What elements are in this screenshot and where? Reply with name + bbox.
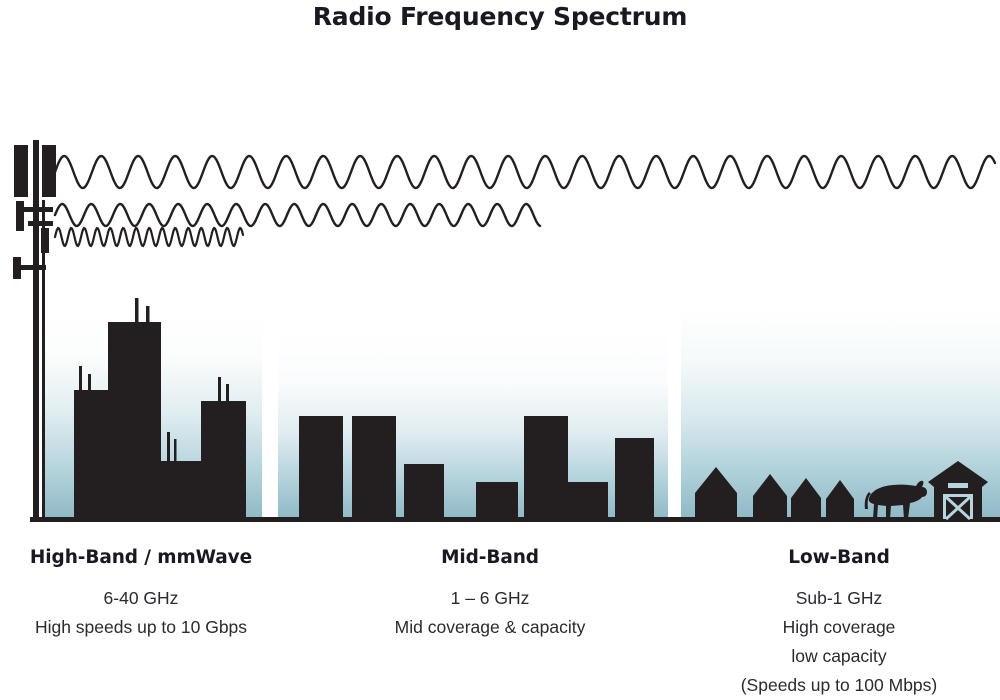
band-label-mid: Mid-Band 1 – 6 GHz Mid coverage & capaci… [340, 547, 640, 642]
suburb-building [568, 482, 608, 519]
wave-long-wavelength-low-band [55, 156, 995, 188]
skyscraper-spire [167, 432, 170, 462]
wave-short-wavelength-high-band [55, 228, 243, 246]
band-frequency-high: 6-40 GHz [0, 584, 282, 613]
band-label-low: Low-Band Sub-1 GHz High coverage low cap… [678, 547, 1000, 700]
band-detail-high-0: High speeds up to 10 Gbps [0, 613, 282, 642]
tower-mast [33, 140, 39, 522]
suburb-building [404, 464, 444, 519]
band-detail-low-1: low capacity [678, 642, 1000, 671]
tower-antenna-panel-left [14, 145, 28, 197]
band-detail-low-0: High coverage [678, 613, 1000, 642]
suburb-building [299, 416, 343, 519]
band-frequency-low: Sub-1 GHz [678, 584, 1000, 613]
tower-crossbar-mid-2 [28, 221, 53, 226]
band-detail-low-2: (Speeds up to 100 Mbps) [678, 671, 1000, 700]
band-frequency-mid: 1 – 6 GHz [340, 584, 640, 613]
barn-vent [948, 483, 968, 488]
suburb-building [476, 482, 518, 519]
suburb-building [615, 438, 654, 519]
skyscraper-building [108, 322, 161, 519]
tower-antenna-low-left [13, 257, 21, 279]
band-description-high: 6-40 GHz High speeds up to 10 Gbps [0, 584, 282, 642]
wave-medium-wavelength-mid-band [55, 204, 540, 226]
tower-crossbar-low [20, 265, 46, 270]
band-detail-mid-0: Mid coverage & capacity [340, 613, 640, 642]
band-name-high: High-Band / mmWave [0, 547, 282, 568]
band-label-high: High-Band / mmWave 6-40 GHz High speeds … [0, 547, 282, 642]
tower-antenna-mid-left [16, 201, 24, 231]
suburb-building [524, 416, 568, 519]
tower-antenna-small [41, 228, 49, 253]
band-description-low: Sub-1 GHz High coverage low capacity (Sp… [678, 584, 1000, 700]
band-name-low: Low-Band [678, 547, 1000, 568]
tower-antenna-panel-right [42, 145, 56, 197]
skyscraper-building [74, 390, 108, 519]
suburb-building [352, 416, 396, 519]
radio-waves [55, 156, 995, 246]
skyscraper-building [201, 401, 246, 519]
skyscraper-spire [174, 439, 177, 462]
band-name-mid: Mid-Band [340, 547, 640, 568]
band-description-mid: 1 – 6 GHz Mid coverage & capacity [340, 584, 640, 642]
radio-frequency-spectrum-infographic: Radio Frequency Spectrum [0, 0, 1000, 700]
skyscraper-building [161, 461, 201, 519]
tower-crossbar-mid [20, 207, 53, 212]
